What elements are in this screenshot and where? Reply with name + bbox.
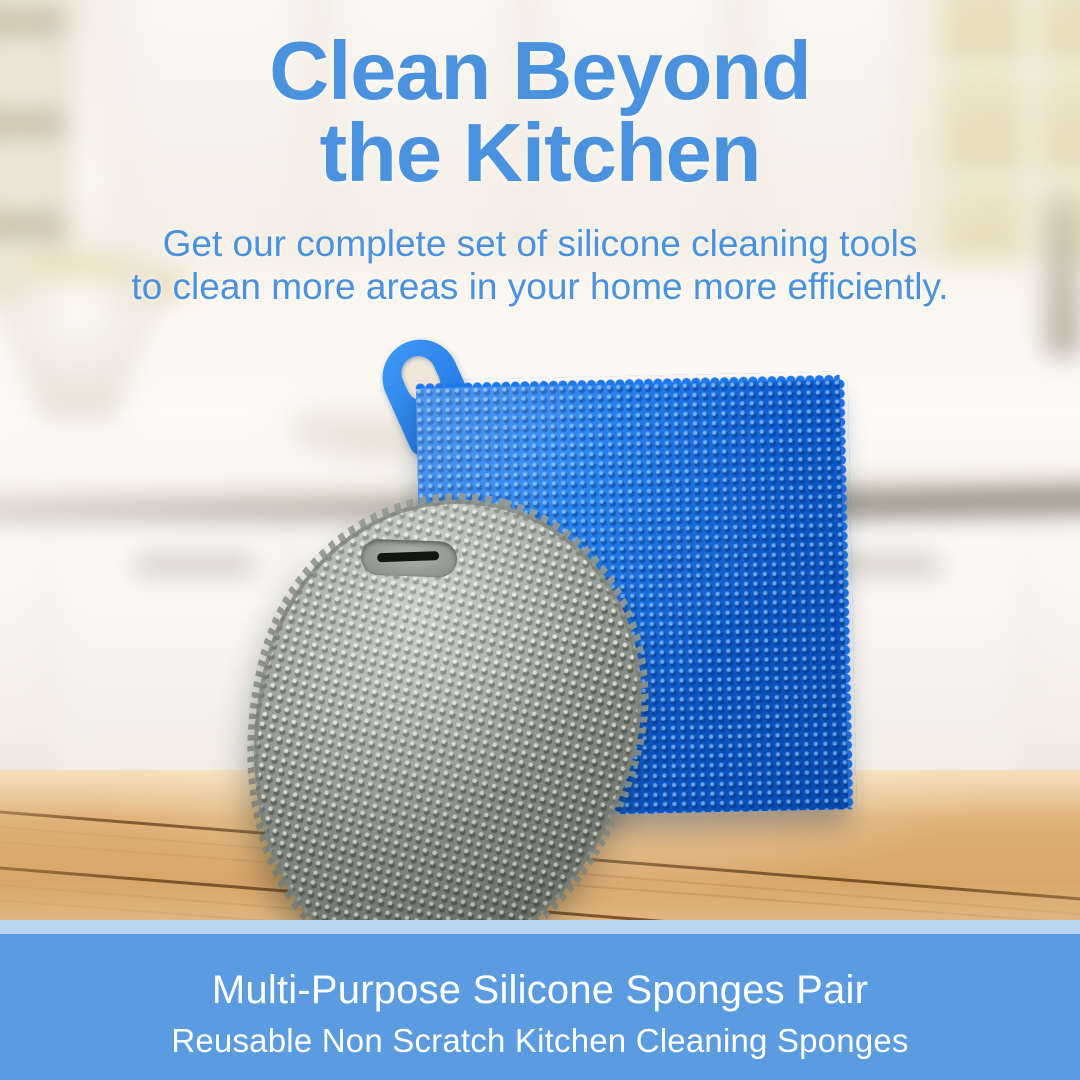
- banner-accent-strip: [0, 920, 1080, 934]
- subtitle-line-2: to clean more areas in your home more ef…: [18, 265, 1062, 308]
- product-description: Reusable Non Scratch Kitchen Cleaning Sp…: [0, 1022, 1080, 1060]
- page-title: Clean Beyond the Kitchen: [0, 30, 1080, 194]
- headline-line-2: the Kitchen: [0, 112, 1080, 194]
- subtitle-line-1: Get our complete set of silicone cleanin…: [18, 222, 1062, 265]
- product-marketing-image: Clean Beyond the Kitchen Get our complet…: [0, 0, 1080, 1080]
- product-banner: Multi-Purpose Silicone Sponges Pair Reus…: [0, 934, 1080, 1080]
- headline-line-1: Clean Beyond: [0, 30, 1080, 112]
- page-subtitle: Get our complete set of silicone cleanin…: [18, 222, 1062, 309]
- product-name: Multi-Purpose Silicone Sponges Pair: [0, 968, 1080, 1013]
- cabinet-handle: [135, 560, 255, 569]
